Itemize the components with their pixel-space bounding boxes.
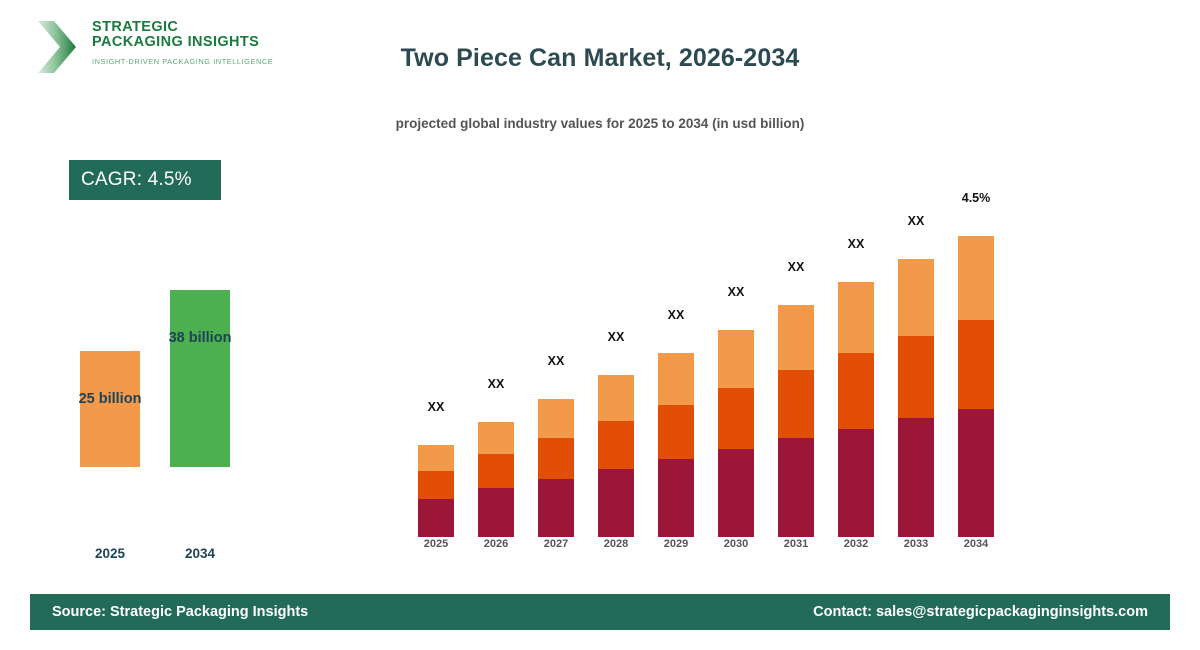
stack-value-label-2026: XX	[466, 377, 526, 391]
infographic-canvas: STRATEGIC PACKAGING INSIGHTS INSIGHT-DRI…	[0, 0, 1200, 650]
stacked-bar-2032	[838, 282, 874, 537]
footer-source: Source: Strategic Packaging Insights	[52, 604, 308, 620]
stack-value-label-2030: XX	[706, 285, 766, 299]
stack-segment-segment-2-2028	[598, 421, 634, 469]
stack-segment-segment-1-2033	[898, 418, 934, 537]
stack-year-label-2028: 2028	[586, 538, 646, 550]
stack-segment-segment-1-2027	[538, 479, 574, 537]
stack-year-label-2034: 2034	[946, 538, 1006, 550]
stack-year-label-2029: 2029	[646, 538, 706, 550]
stack-segment-segment-3-2030	[718, 330, 754, 388]
stack-segment-segment-1-2029	[658, 459, 694, 537]
footer-bar: Source: Strategic Packaging Insights Con…	[30, 594, 1170, 630]
stack-segment-segment-3-2028	[598, 375, 634, 421]
stack-value-label-2034: 4.5%	[946, 191, 1006, 205]
stack-segment-segment-2-2034	[958, 320, 994, 408]
comparison-value-label-2025: 25 billion	[60, 391, 160, 407]
stack-segment-segment-2-2027	[538, 438, 574, 479]
stack-segment-segment-1-2028	[598, 469, 634, 538]
stack-segment-segment-2-2025	[418, 471, 454, 499]
stack-year-label-2030: 2030	[706, 538, 766, 550]
stacked-bar-2027	[538, 399, 574, 537]
stack-segment-segment-1-2031	[778, 438, 814, 537]
stack-segment-segment-3-2031	[778, 305, 814, 370]
stack-year-label-2027: 2027	[526, 538, 586, 550]
stack-segment-segment-3-2034	[958, 236, 994, 320]
stack-year-label-2026: 2026	[466, 538, 526, 550]
stacked-bar-2034	[958, 236, 994, 537]
stacked-bar-2029	[658, 353, 694, 537]
stack-segment-segment-1-2025	[418, 499, 454, 537]
stacked-bar-2026	[478, 422, 514, 537]
stack-segment-segment-3-2027	[538, 399, 574, 438]
stack-segment-segment-1-2030	[718, 449, 754, 537]
stack-segment-segment-1-2026	[478, 488, 514, 537]
comparison-year-label-2034: 2034	[150, 546, 250, 561]
page-title: Two Piece Can Market, 2026-2034	[340, 44, 860, 73]
stack-segment-segment-2-2026	[478, 454, 514, 488]
stack-value-label-2032: XX	[826, 237, 886, 251]
comparison-bar-chart: 25 billion202538 billion2034	[0, 0, 320, 580]
stack-segment-segment-3-2032	[838, 282, 874, 353]
stack-year-label-2025: 2025	[406, 538, 466, 550]
stack-value-label-2025: XX	[406, 400, 466, 414]
stack-segment-segment-1-2034	[958, 409, 994, 537]
stack-segment-segment-2-2029	[658, 405, 694, 459]
stack-value-label-2031: XX	[766, 260, 826, 274]
stack-value-label-2033: XX	[886, 214, 946, 228]
stack-year-label-2031: 2031	[766, 538, 826, 550]
comparison-bar-2034	[170, 290, 230, 467]
comparison-bar-2025	[80, 351, 140, 467]
stack-year-label-2033: 2033	[886, 538, 946, 550]
comparison-value-label-2034: 38 billion	[150, 330, 250, 346]
comparison-year-label-2025: 2025	[60, 546, 160, 561]
stack-year-label-2032: 2032	[826, 538, 886, 550]
stack-segment-segment-2-2033	[898, 336, 934, 418]
stacked-bar-2028	[598, 375, 634, 537]
stacked-bar-chart: XX2025XX2026XX2027XX2028XX2029XX2030XX20…	[410, 200, 1010, 560]
stack-segment-segment-1-2032	[838, 429, 874, 537]
stack-segment-segment-2-2032	[838, 353, 874, 428]
stack-segment-segment-3-2026	[478, 422, 514, 454]
stack-value-label-2029: XX	[646, 308, 706, 322]
stack-value-label-2027: XX	[526, 354, 586, 368]
stack-segment-segment-2-2031	[778, 370, 814, 439]
stack-value-label-2028: XX	[586, 330, 646, 344]
stacked-bar-2030	[718, 330, 754, 537]
stacked-bar-2031	[778, 305, 814, 537]
stacked-bar-2033	[898, 259, 934, 537]
stack-segment-segment-3-2033	[898, 259, 934, 336]
page-subtitle: projected global industry values for 202…	[280, 116, 920, 131]
stack-segment-segment-2-2030	[718, 388, 754, 449]
stack-segment-segment-3-2025	[418, 445, 454, 472]
stack-segment-segment-3-2029	[658, 353, 694, 404]
footer-contact[interactable]: Contact: sales@strategicpackaginginsight…	[813, 604, 1148, 620]
stacked-bar-2025	[418, 445, 454, 537]
